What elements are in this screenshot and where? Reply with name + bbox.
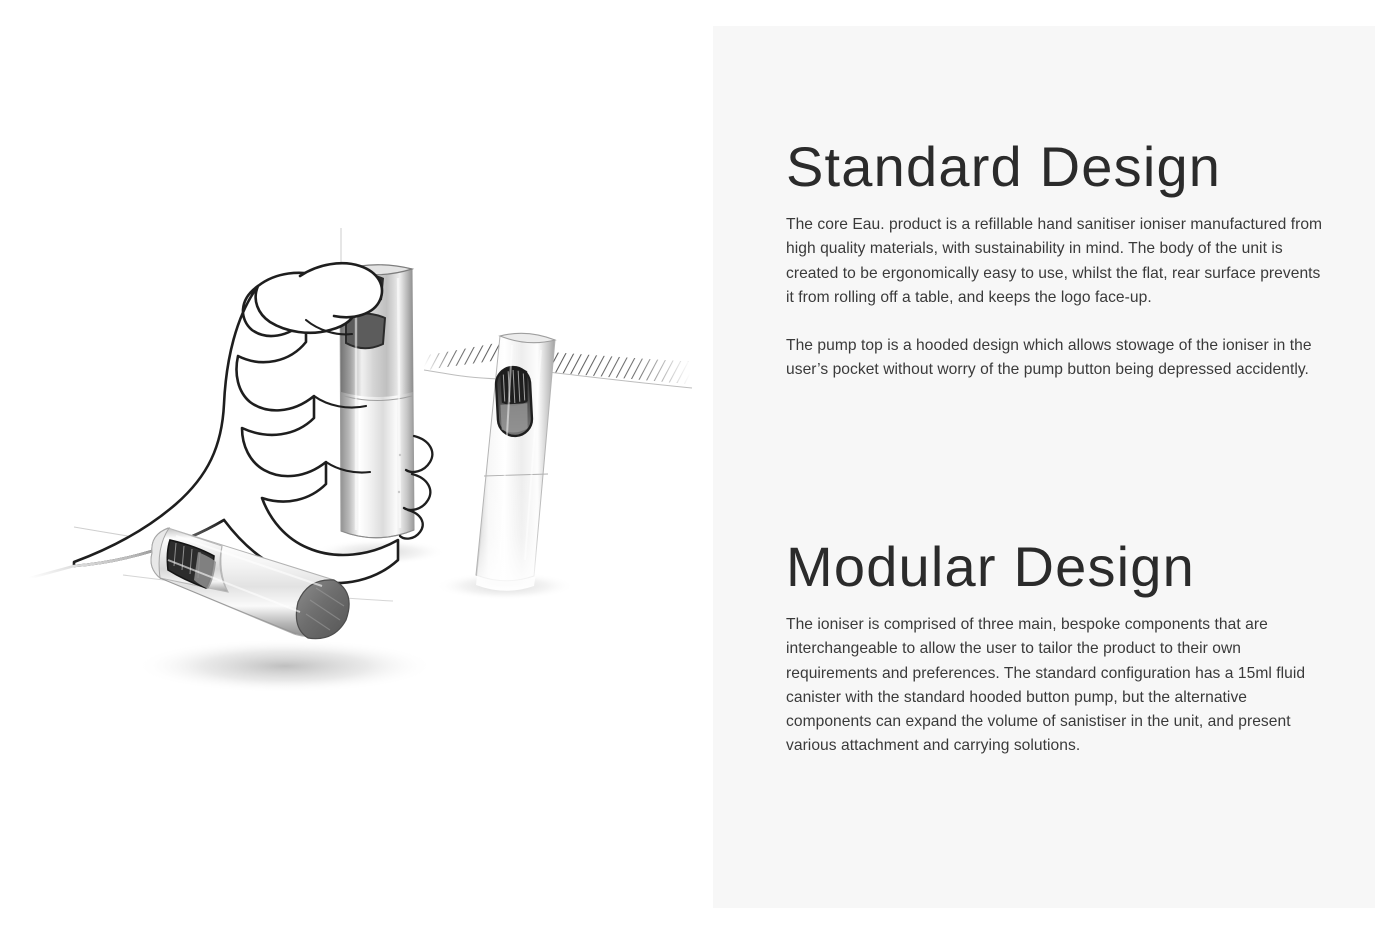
- content-panel: Standard Design The core Eau. product is…: [713, 26, 1375, 908]
- section-standard-design: Standard Design The core Eau. product is…: [786, 138, 1326, 382]
- modular-design-body: The ioniser is comprised of three main, …: [786, 613, 1326, 758]
- modular-design-heading: Modular Design: [786, 538, 1326, 595]
- front-view-unit: [424, 333, 692, 590]
- standard-design-paragraph-1: The core Eau. product is a refillable ha…: [786, 213, 1326, 310]
- product-concept-sketch: [0, 0, 713, 934]
- product-sketch-panel: [0, 0, 713, 934]
- hatched-surface-band: [424, 342, 692, 388]
- standard-design-paragraph-2: The pump top is a hooded design which al…: [786, 334, 1326, 382]
- shadow-lying-unit: [135, 639, 435, 693]
- section-modular-design: Modular Design The ioniser is comprised …: [786, 538, 1326, 758]
- standard-design-body: The core Eau. product is a refillable ha…: [786, 213, 1326, 382]
- hooded-pump-window: [495, 366, 533, 437]
- modular-design-paragraph-1: The ioniser is comprised of three main, …: [786, 613, 1326, 758]
- standard-design-heading: Standard Design: [786, 138, 1326, 195]
